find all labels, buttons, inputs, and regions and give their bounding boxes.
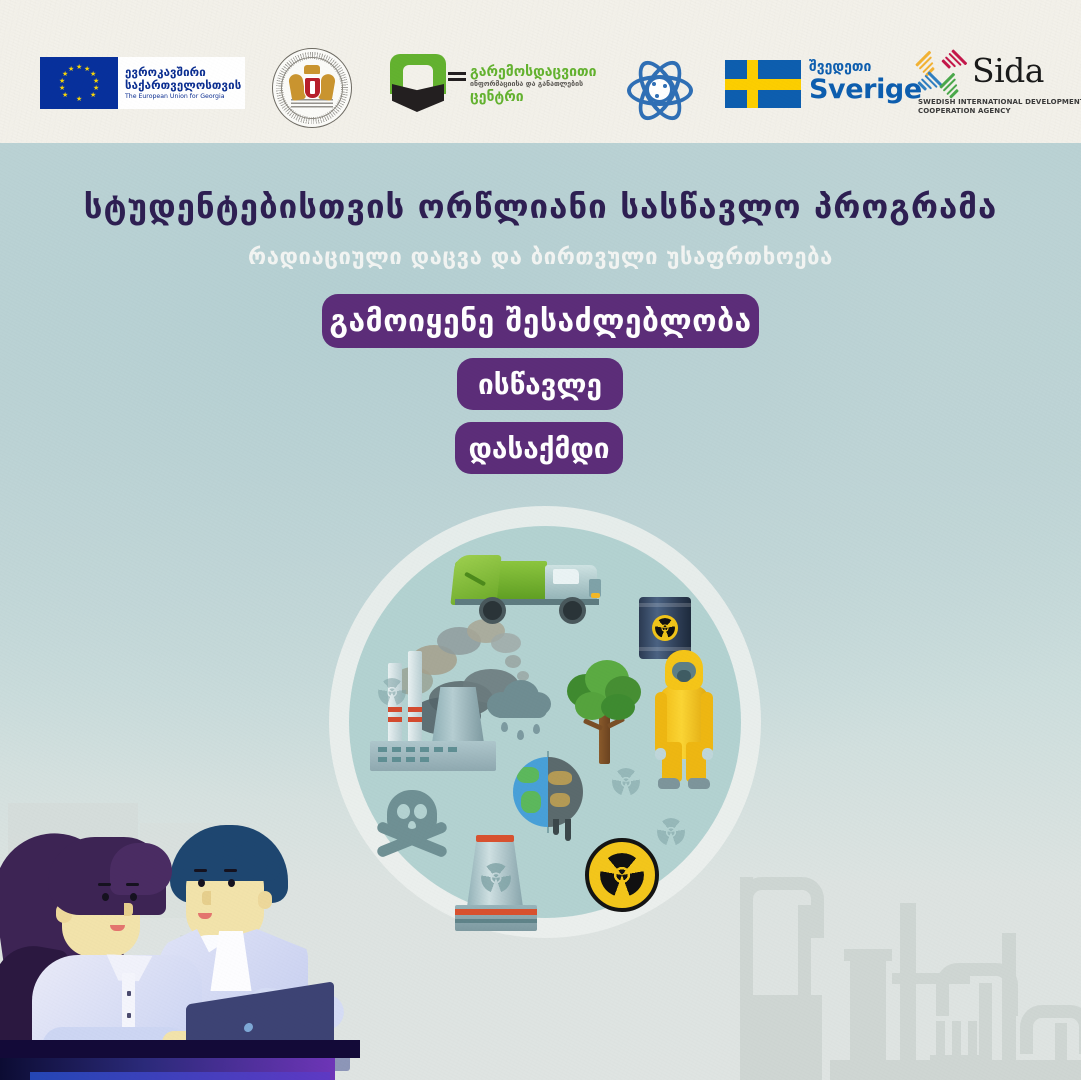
sweden-flag-icon	[725, 60, 801, 108]
student-male-eye-right	[228, 879, 235, 887]
student-female-hair-top	[110, 843, 172, 895]
student-female-brow-left	[98, 883, 111, 886]
logo-sida: Sida SWEDISH INTERNATIONAL DEVELOPMENT C…	[918, 52, 1068, 114]
eu-logo-line2: საქართველოსთვის	[125, 79, 241, 92]
polluted-earth-globe-icon	[513, 757, 583, 827]
nuclear-cooling-tower-icon	[455, 835, 537, 931]
desk-accent-gradient-secondary	[30, 1072, 330, 1080]
sida-subtitle-line1: SWEDISH INTERNATIONAL DEVELOPMENT	[918, 98, 1081, 107]
badge-opportunity[interactable]: გამოიყენე შესაძლებლობა	[322, 294, 759, 348]
sponsor-logo-band: ★ ★ ★ ★ ★ ★ ★ ★ ★ ★ ★ ★ ევროკავშირი საქა…	[0, 0, 1081, 143]
tree-icon	[565, 660, 643, 768]
industrial-plant-silhouette	[740, 855, 1081, 1080]
program-title: სტუდენტებისთვის ორწლიანი სასწავლო პროგრა…	[0, 186, 1081, 228]
skull-and-crossbones-icon	[375, 790, 449, 862]
student-female-brow-right	[126, 883, 139, 886]
sida-wordmark: Sida	[972, 52, 1044, 90]
poster-root: ★ ★ ★ ★ ★ ★ ★ ★ ★ ★ ★ ★ ევროკავშირი საქა…	[0, 0, 1081, 1080]
hazmat-worker-icon	[655, 650, 713, 790]
student-female-nose	[124, 903, 133, 916]
eiec-line1: გარემოსდაცვითი	[470, 64, 600, 80]
seal-caption-lines	[291, 99, 333, 110]
radiation-trefoil-small-icon	[612, 768, 640, 796]
logo-sweden-sverige: შვედეთი Sverige	[725, 58, 895, 110]
logo-european-union-for-georgia: ★ ★ ★ ★ ★ ★ ★ ★ ★ ★ ★ ★ ევროკავშირი საქა…	[40, 57, 245, 109]
eiec-line2: ინფორმაციისა და განათლების	[470, 80, 600, 89]
student-male-ear	[258, 891, 272, 909]
student-female-eye-right	[130, 893, 137, 901]
garbage-truck-icon	[455, 555, 613, 617]
acid-rain-cloud-icon	[487, 680, 553, 740]
shirt-button	[127, 991, 131, 996]
radiation-warning-sign-icon	[585, 838, 659, 912]
badge-learn[interactable]: ისწავლე	[457, 358, 623, 410]
student-male-fringe	[176, 829, 280, 881]
atom-icon	[625, 55, 687, 117]
program-subtitle: რადიაციული დაცვა და ბირთვული უსაფრთხოება	[0, 243, 1081, 273]
sweden-line2: Sverige	[809, 74, 922, 106]
eiec-text: გარემოსდაცვითი ინფორმაციისა და განათლები…	[470, 64, 600, 105]
eiec-mark-icon	[390, 54, 446, 110]
badge-get-employed[interactable]: დასაქმდი	[455, 422, 623, 474]
students-at-laptop-illustration	[0, 795, 370, 1080]
radiation-trefoil-small-icon	[378, 678, 406, 706]
student-female-eye-left	[102, 893, 109, 901]
shirt-button	[127, 1013, 131, 1018]
student-male-nose	[202, 891, 211, 905]
crown-icon	[304, 65, 320, 74]
seal-inner	[281, 57, 343, 119]
eiec-line3: ცენტრი	[470, 89, 600, 105]
lion-right-icon	[318, 73, 336, 101]
student-male-eye-left	[198, 879, 205, 887]
lion-left-icon	[288, 73, 306, 101]
desk-surface	[0, 1040, 360, 1058]
shield-icon	[305, 78, 320, 98]
eiec-bars-icon	[448, 72, 466, 84]
eu-flag-icon: ★ ★ ★ ★ ★ ★ ★ ★ ★ ★ ★ ★	[40, 57, 118, 109]
radiation-trefoil-small-icon	[657, 818, 685, 846]
student-male-brow-left	[194, 869, 207, 872]
logo-government-of-georgia-emblem	[272, 48, 352, 128]
eu-logo-text: ევროკავშირი საქართველოსთვის The European…	[118, 66, 241, 101]
student-male-brow-right	[224, 869, 237, 872]
factory-smokestacks-icon	[370, 645, 500, 770]
logo-environmental-information-education-centre: გარემოსდაცვითი ინფორმაციისა და განათლები…	[390, 52, 595, 114]
sida-subtitle-line2: COOPERATION AGENCY	[918, 107, 1011, 116]
sida-pinwheel-icon	[918, 54, 968, 98]
eu-logo-line1: ევროკავშირი	[125, 66, 241, 79]
eu-logo-line3: The European Union for Georgia	[125, 93, 241, 101]
